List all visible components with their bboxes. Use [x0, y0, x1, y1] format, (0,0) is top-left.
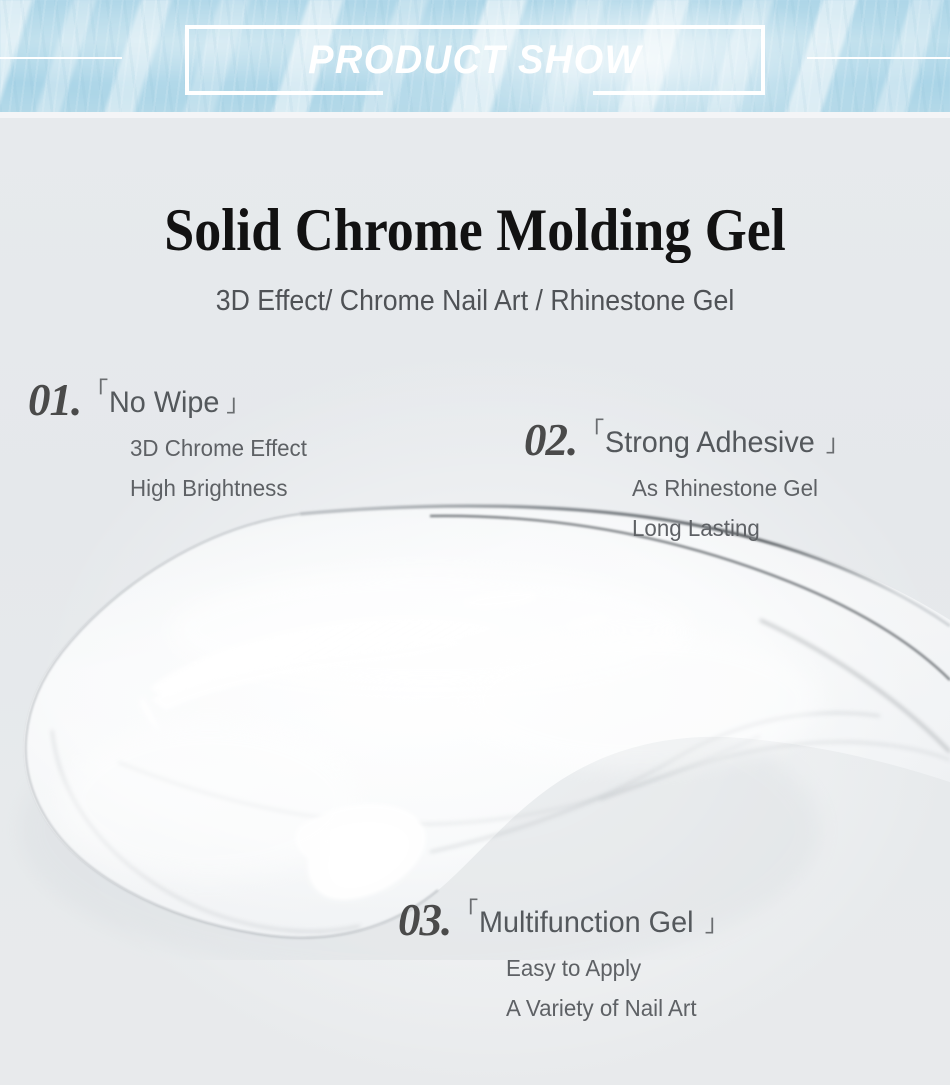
- feature-02-heading: 02. 「 Strong Adhesive 」: [524, 418, 850, 463]
- feature-01-number: 01.: [28, 378, 81, 423]
- page-subtitle: 3D Effect/ Chrome Nail Art / Rhinestone …: [38, 285, 912, 318]
- feature-03-sub2: A Variety of Nail Art: [506, 993, 722, 1023]
- feature-block-03: 03. 「 Multifunction Gel 」 Easy to Apply …: [398, 898, 729, 1024]
- corner-bracket-close-icon: 」: [705, 912, 729, 936]
- frame-right-border: [761, 25, 765, 95]
- gel-droplet-image: [0, 500, 950, 960]
- corner-bracket-open-icon: 「: [580, 420, 604, 444]
- feature-03-number: 03.: [398, 898, 451, 943]
- corner-bracket-open-icon: 「: [84, 380, 108, 404]
- feature-03-heading: 03. 「 Multifunction Gel 」: [398, 898, 729, 943]
- banner-title-frame: PRODUCT SHOW: [185, 25, 765, 95]
- corner-bracket-close-icon: 」: [226, 392, 250, 416]
- feature-02-sub2: Long Lasting: [632, 513, 843, 543]
- feature-block-02: 02. 「 Strong Adhesive 」 As Rhinestone Ge…: [524, 418, 850, 544]
- frame-left-border: [185, 25, 189, 95]
- feature-01-heading: 01. 「 No Wipe 」: [28, 378, 312, 423]
- feature-block-01: 01. 「 No Wipe 」 3D Chrome Effect High Br…: [28, 378, 312, 504]
- horizontal-rule-left-icon: [0, 57, 122, 59]
- banner-title-text: PRODUCT SHOW: [200, 25, 751, 95]
- feature-02-sub1: As Rhinestone Gel: [632, 473, 843, 503]
- feature-03-sub1: Easy to Apply: [506, 953, 722, 983]
- page-title: Solid Chrome Molding Gel: [48, 196, 903, 265]
- feature-01-label: No Wipe: [109, 388, 219, 418]
- product-show-banner-page: PRODUCT SHOW: [0, 0, 950, 1085]
- feature-03-label: Multifunction Gel: [479, 908, 694, 938]
- feature-02-label: Strong Adhesive: [605, 428, 815, 458]
- corner-bracket-open-icon: 「: [454, 900, 478, 924]
- corner-bracket-close-icon: 」: [826, 432, 850, 456]
- feature-01-sub2: High Brightness: [130, 473, 307, 503]
- horizontal-rule-right-icon: [807, 57, 950, 59]
- feature-01-sub1: 3D Chrome Effect: [130, 433, 307, 463]
- feature-02-number: 02.: [524, 418, 577, 463]
- banner-header: PRODUCT SHOW: [0, 0, 950, 118]
